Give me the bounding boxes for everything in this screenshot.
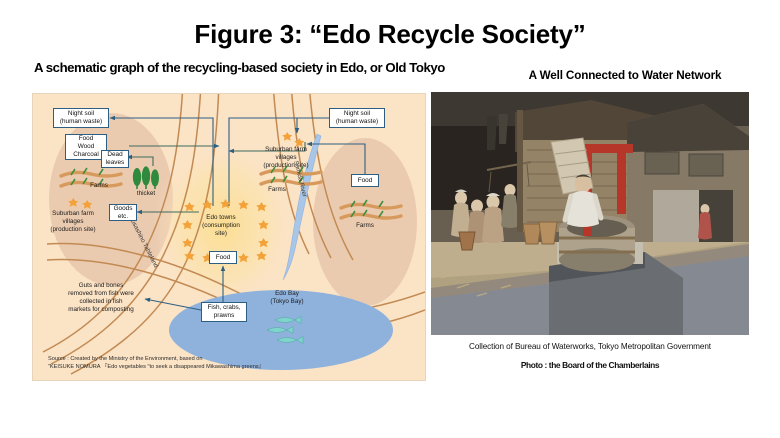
box-fish-crabs-prawns[interactable]: Fish, crabs, prawns xyxy=(201,302,247,322)
box-goods-etc[interactable]: Goods etc. xyxy=(109,204,137,221)
schematic-diagram-panel: Night soil (human waste) Night soil (hum… xyxy=(32,93,426,381)
label-thicket: thicket xyxy=(127,190,165,198)
box-food-right[interactable]: Food xyxy=(351,174,379,187)
label-farms-left: Farms xyxy=(77,182,121,190)
box-food-center[interactable]: Food xyxy=(209,251,237,264)
photo-heading: A Well Connected to Water Network xyxy=(470,69,780,82)
arrow-town-to-suburban-center xyxy=(229,118,297,133)
box-dead-leaves[interactable]: Dead leaves xyxy=(101,150,129,168)
box-night-soil-left[interactable]: Night soil (human waste) xyxy=(53,108,109,128)
diagram-source-note: Source : Created by the Ministry of the … xyxy=(48,356,264,372)
subtitle: A schematic graph of the recycling-based… xyxy=(34,60,464,76)
label-farms-center: Farms xyxy=(255,186,299,194)
label-guts-and-bones: Guts and bones removed from fish were co… xyxy=(59,282,143,313)
well-diorama-photo xyxy=(431,92,749,335)
page-title: Figure 3: “Edo Recycle Society” xyxy=(0,20,780,49)
box-night-soil-right[interactable]: Night soil (human waste) xyxy=(329,108,385,128)
label-edo-bay: Edo Bay (Tokyo Bay) xyxy=(259,290,315,306)
label-farms-right: Farms xyxy=(343,222,387,230)
diorama-scene xyxy=(431,92,749,335)
thicket-trees xyxy=(133,166,159,189)
photo-caption-collection: Collection of Bureau of Waterworks, Toky… xyxy=(431,342,749,351)
label-edo-towns: Edo towns (consumption site) xyxy=(197,214,245,238)
photo-caption-credit: Photo : the Board of the Chamberlains xyxy=(431,360,749,370)
markers-suburban-center xyxy=(282,132,304,147)
slide-root: Figure 3: “Edo Recycle Society” A schema… xyxy=(0,0,780,438)
label-suburban-villages-center: Suburban farm villages (production site) xyxy=(255,146,317,170)
label-suburban-villages-left: Suburban farm villages (production site) xyxy=(41,210,105,234)
